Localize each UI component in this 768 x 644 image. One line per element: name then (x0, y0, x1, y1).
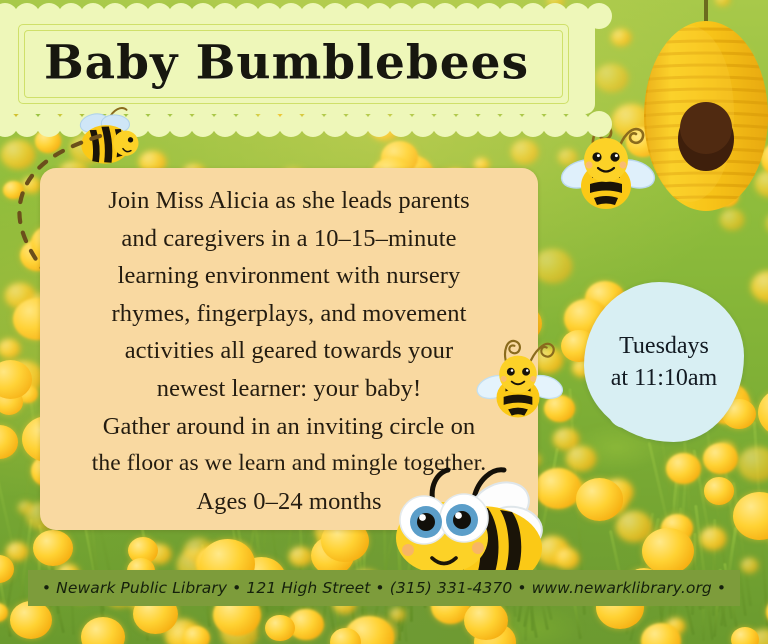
badge-text: Tuesdays at 11:10am (584, 282, 744, 442)
bee-mid-icon (466, 326, 570, 430)
body-line-7: Gather around in an inviting circle on (54, 408, 524, 446)
badge-day: Tuesdays (619, 331, 709, 361)
footer-bar: • Newark Public Library • 121 High Stree… (28, 570, 740, 606)
badge-time: at 11:10am (611, 363, 717, 393)
body-line-2: and caregivers in a 10–15–minute (54, 220, 524, 258)
banner-scallop-top (0, 3, 595, 17)
footer-contact-text: • Newark Public Library • 121 High Stree… (42, 579, 726, 597)
body-line-1: Join Miss Alicia as she leads parents (54, 182, 524, 220)
body-line-3: learning environment with nursery (54, 257, 524, 295)
poster-canvas: Baby Bumblebees Join Mis (0, 0, 768, 644)
body-line-5: activities all geared towards your (54, 332, 524, 370)
schedule-badge: Tuesdays at 11:10am (584, 282, 744, 442)
body-line-4: rhymes, fingerplays, and movement (54, 295, 524, 333)
page-title: Baby Bumblebees (0, 35, 573, 90)
body-line-6: newest learner: your baby! (54, 370, 524, 408)
